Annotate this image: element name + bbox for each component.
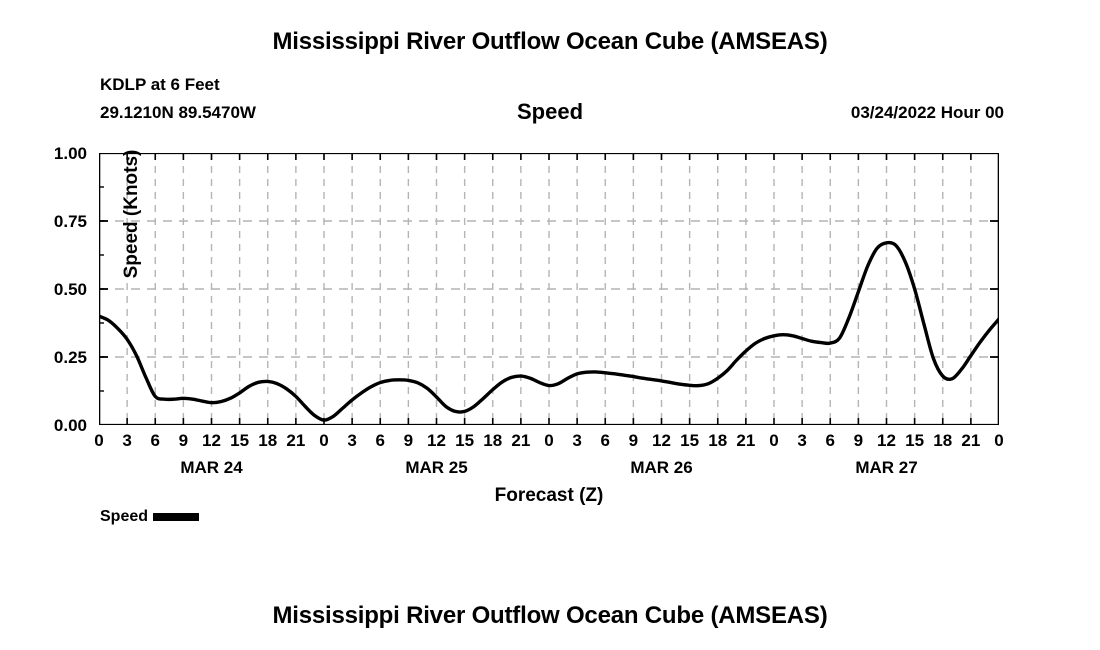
y-axis-tick-labels: 0.000.250.500.751.00 [99,153,999,425]
chart-page: Mississippi River Outflow Ocean Cube (AM… [0,0,1100,650]
page-title-bottom: Mississippi River Outflow Ocean Cube (AM… [0,602,1100,630]
legend-label-speed: Speed [100,508,148,526]
day-label: MAR 25 [357,458,517,478]
x-tick-label: 0 [979,431,1019,451]
legend: Speed [100,508,199,526]
y-tick-label: 0.25 [21,349,87,366]
day-label: MAR 26 [582,458,742,478]
y-tick-label: 0.50 [21,281,87,298]
x-axis-label: Forecast (Z) [99,485,999,507]
page-title-top: Mississippi River Outflow Ocean Cube (AM… [0,28,1100,56]
y-tick-label: 0.00 [21,417,87,434]
day-label: MAR 27 [807,458,967,478]
y-tick-label: 0.75 [21,213,87,230]
model-run-label: 03/24/2022 Hour 00 [851,103,1004,123]
legend-line-swatch [153,513,199,521]
day-label: MAR 24 [132,458,292,478]
station-depth-label: KDLP at 6 Feet [100,75,220,95]
y-tick-label: 1.00 [21,145,87,162]
plot-area: Speed (Knots) 0.000.250.500.751.00 03691… [99,153,999,425]
